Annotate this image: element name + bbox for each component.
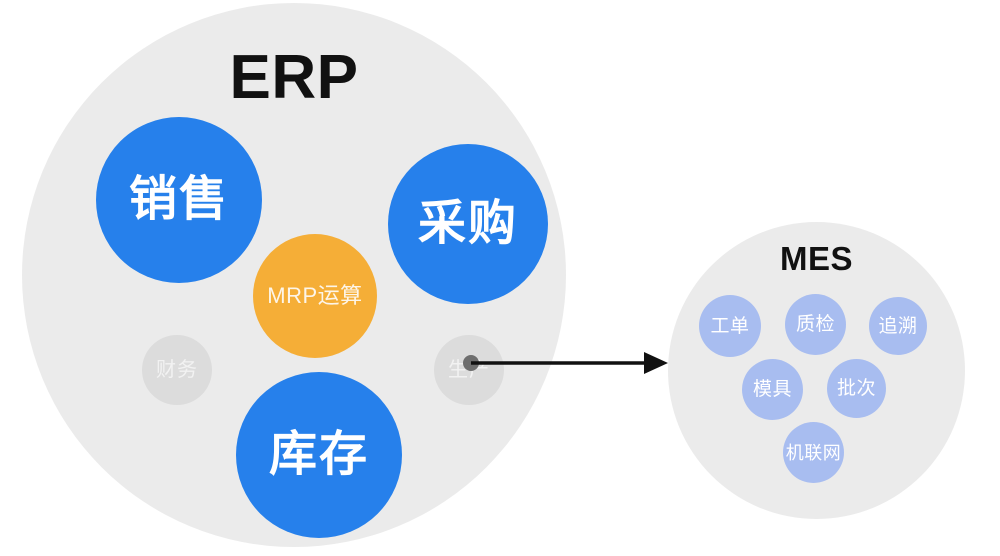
- mes-node-batch[interactable]: 批次: [827, 359, 886, 418]
- diagram-canvas: ERP 销售 采购 库存 MRP运算 财务 生产 MES: [0, 0, 1000, 556]
- erp-node-sales-label: 销售: [129, 176, 229, 224]
- mes-node-work-order-label: 工单: [710, 317, 749, 336]
- erp-node-purchase-label: 采购: [418, 200, 518, 248]
- erp-node-purchase[interactable]: 采购: [388, 144, 548, 304]
- erp-container-circle: ERP 销售 采购 库存 MRP运算 财务 生产: [22, 3, 566, 547]
- mes-node-quality-inspection[interactable]: 质检: [785, 294, 846, 355]
- mes-title: MES: [668, 242, 965, 275]
- erp-node-finance[interactable]: 财务: [142, 335, 212, 405]
- arrow-head-icon: [644, 352, 668, 374]
- mes-node-quality-inspection-label: 质检: [796, 315, 835, 334]
- mes-node-traceability-label: 追溯: [878, 317, 917, 336]
- mes-node-machine-network-label: 机联网: [786, 444, 842, 462]
- mes-node-mold[interactable]: 模具: [742, 359, 803, 420]
- erp-node-mrp[interactable]: MRP运算: [253, 234, 377, 358]
- production-to-mes-arrow: [462, 343, 672, 383]
- erp-node-stock[interactable]: 库存: [236, 372, 402, 538]
- mes-node-batch-label: 批次: [837, 379, 876, 398]
- mes-node-work-order[interactable]: 工单: [699, 295, 761, 357]
- erp-node-finance-label: 财务: [156, 360, 198, 380]
- mes-node-machine-network[interactable]: 机联网: [783, 422, 844, 483]
- erp-node-sales[interactable]: 销售: [96, 117, 262, 283]
- erp-title: ERP: [22, 47, 566, 109]
- erp-node-mrp-label: MRP运算: [267, 285, 362, 307]
- mes-node-traceability[interactable]: 追溯: [869, 297, 927, 355]
- mes-node-mold-label: 模具: [753, 380, 792, 399]
- erp-node-stock-label: 库存: [269, 431, 369, 479]
